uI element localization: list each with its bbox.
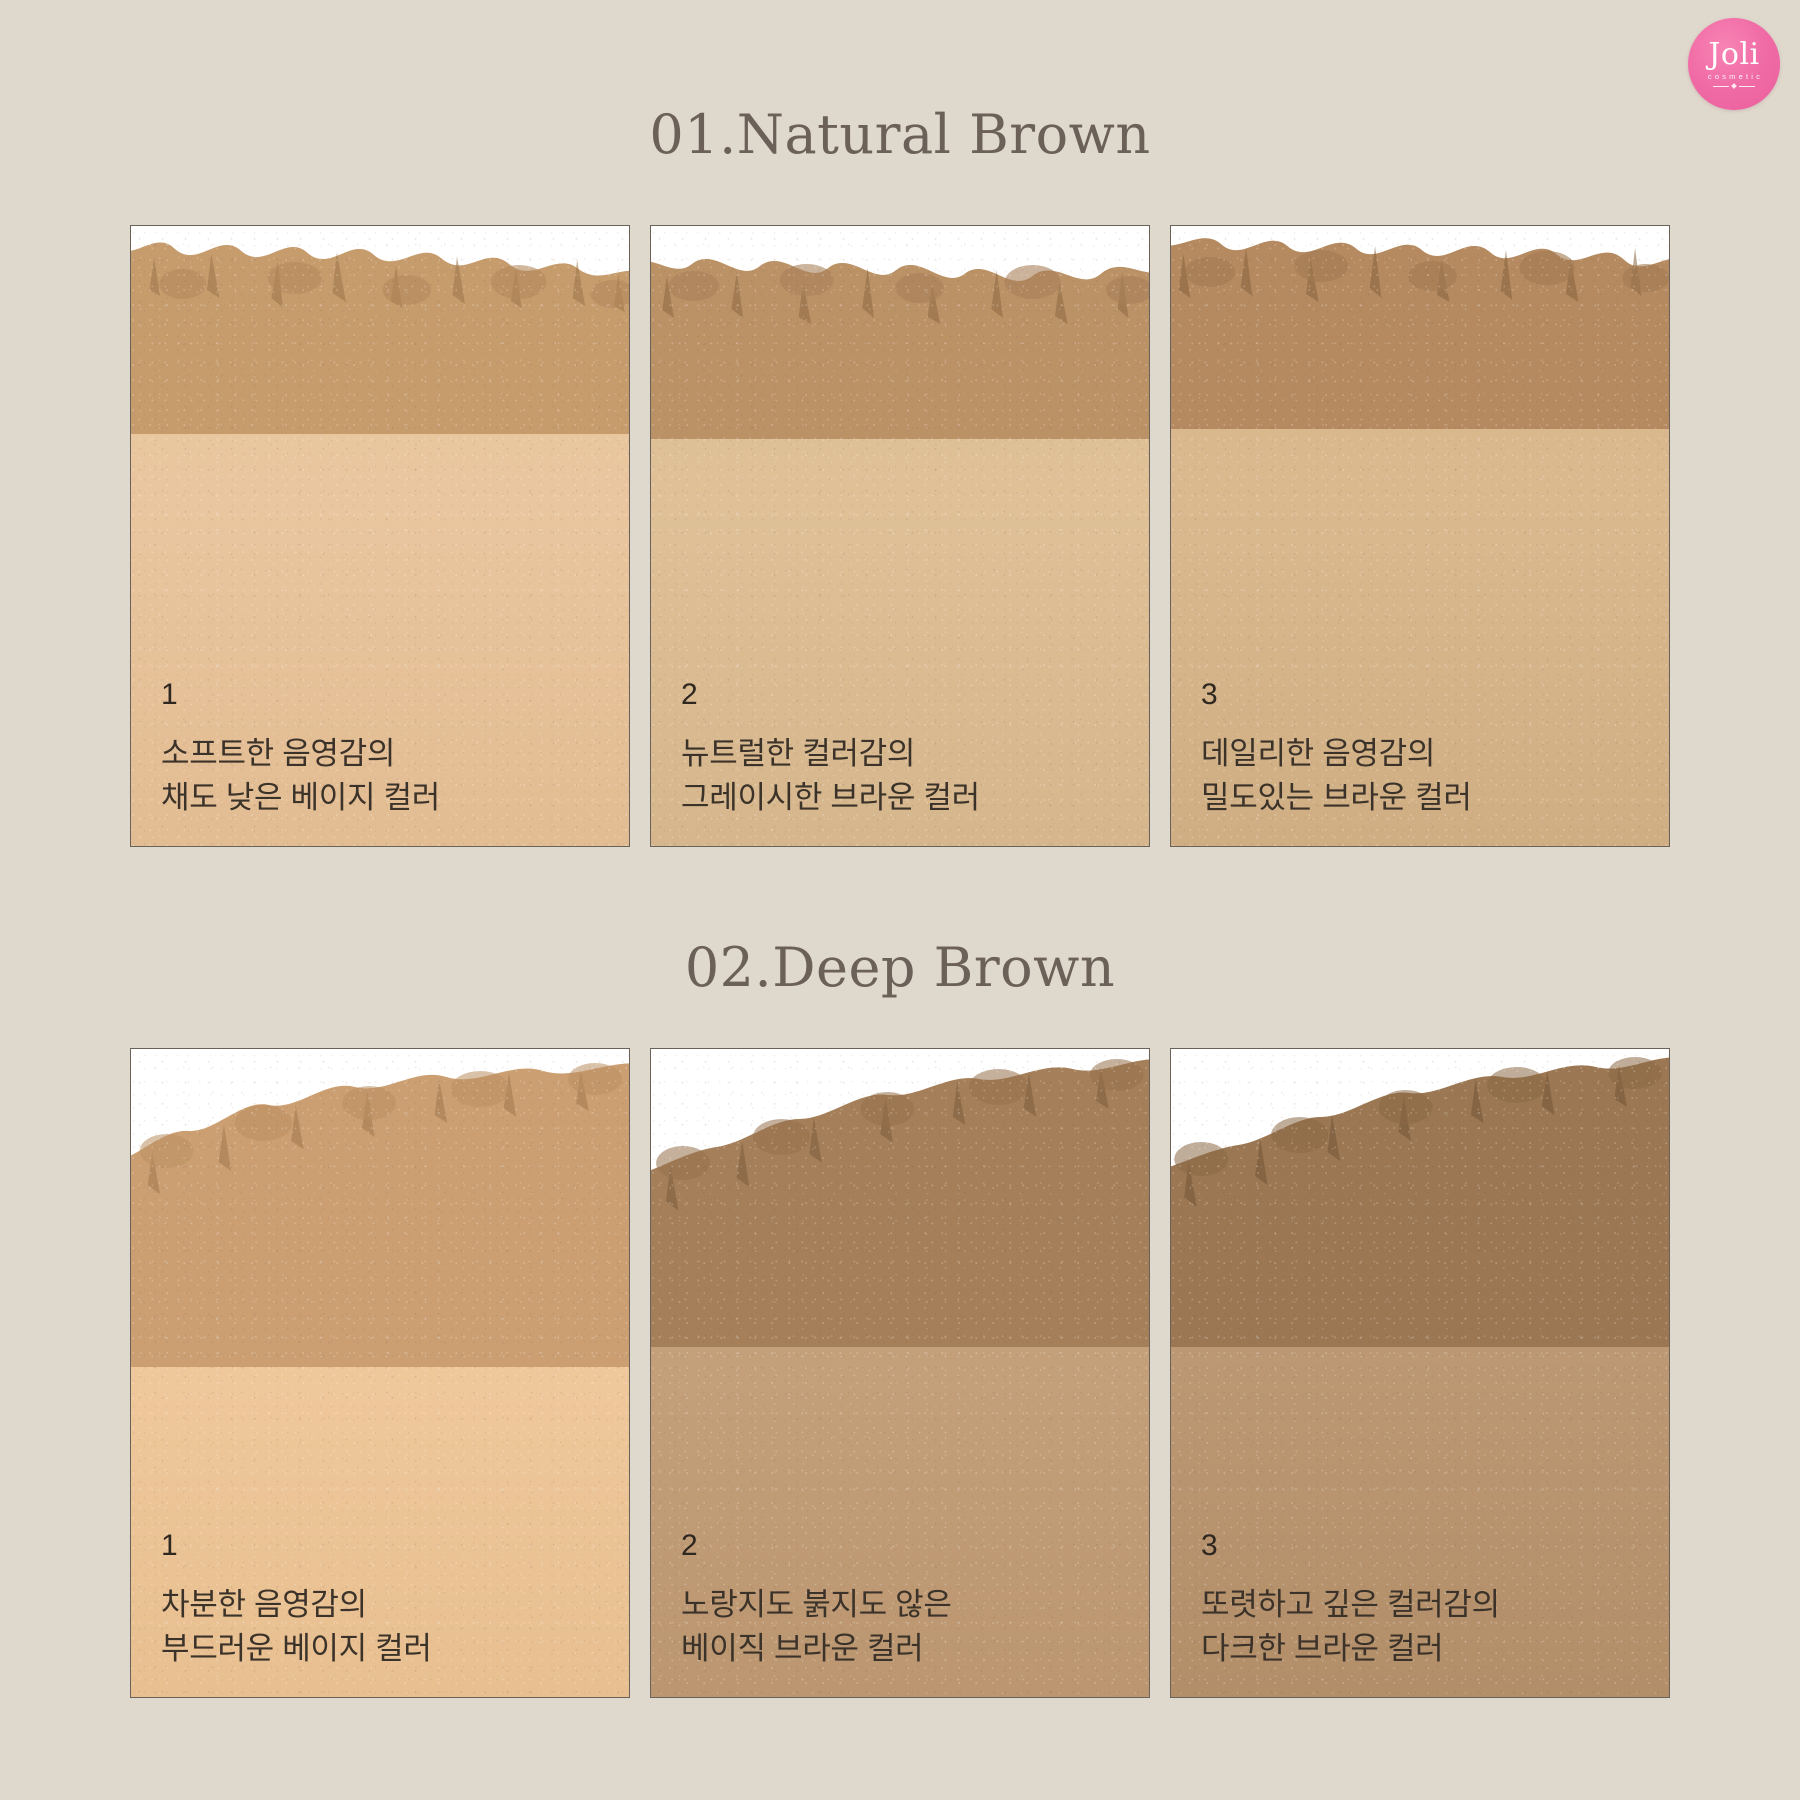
swatch-caption: 1 소프트한 음영감의 채도 낮은 베이지 컬러 bbox=[161, 680, 440, 820]
swatch-description-line-2: 베이직 브라운 컬러 bbox=[681, 1627, 952, 1671]
brand-logo-name: Joli bbox=[1708, 40, 1759, 70]
swatch-description-line-2: 다크한 브라운 컬러 bbox=[1201, 1627, 1500, 1671]
swatch-row-natural-brown: 1 소프트한 음영감의 채도 낮은 베이지 컬러 bbox=[130, 225, 1670, 847]
brand-logo-tagline: cosmetic bbox=[1708, 72, 1763, 81]
swatch-description-line-1: 데일리한 음영감의 bbox=[1201, 732, 1472, 776]
swatch-description-line-1: 또렷하고 깊은 컬러감의 bbox=[1201, 1583, 1500, 1627]
swatch-caption: 1 차분한 음영감의 부드러운 베이지 컬러 bbox=[161, 1531, 432, 1671]
swatch-number: 3 bbox=[1201, 680, 1472, 710]
brand-logo-divider bbox=[1713, 84, 1755, 88]
swatch-description-line-1: 소프트한 음영감의 bbox=[161, 732, 440, 776]
swatch-number: 3 bbox=[1201, 1531, 1500, 1561]
swatch-caption: 3 데일리한 음영감의 밀도있는 브라운 컬러 bbox=[1201, 680, 1472, 820]
brand-logo: Joli cosmetic bbox=[1688, 18, 1780, 110]
swatch-number: 2 bbox=[681, 680, 980, 710]
swatch-card[interactable]: 3 또렷하고 깊은 컬러감의 다크한 브라운 컬러 bbox=[1170, 1048, 1670, 1698]
section-title-deep-brown: 02.Deep Brown bbox=[0, 936, 1800, 999]
swatch-card[interactable]: 1 차분한 음영감의 부드러운 베이지 컬러 bbox=[130, 1048, 630, 1698]
swatch-card[interactable]: 3 데일리한 음영감의 밀도있는 브라운 컬러 bbox=[1170, 225, 1670, 847]
swatch-caption: 2 뉴트럴한 컬러감의 그레이시한 브라운 컬러 bbox=[681, 680, 980, 820]
swatch-description-line-2: 밀도있는 브라운 컬러 bbox=[1201, 776, 1472, 820]
swatch-caption: 2 노랑지도 붉지도 않은 베이직 브라운 컬러 bbox=[681, 1531, 952, 1671]
swatch-row-deep-brown: 1 차분한 음영감의 부드러운 베이지 컬러 bbox=[130, 1048, 1670, 1698]
swatch-card[interactable]: 1 소프트한 음영감의 채도 낮은 베이지 컬러 bbox=[130, 225, 630, 847]
swatch-number: 1 bbox=[161, 680, 440, 710]
swatch-description-line-1: 뉴트럴한 컬러감의 bbox=[681, 732, 980, 776]
swatch-number: 1 bbox=[161, 1531, 432, 1561]
swatch-card[interactable]: 2 뉴트럴한 컬러감의 그레이시한 브라운 컬러 bbox=[650, 225, 1150, 847]
swatch-description-line-2: 채도 낮은 베이지 컬러 bbox=[161, 776, 440, 820]
section-title-natural-brown: 01.Natural Brown bbox=[0, 103, 1800, 166]
swatch-number: 2 bbox=[681, 1531, 952, 1561]
swatch-description-line-1: 노랑지도 붉지도 않은 bbox=[681, 1583, 952, 1627]
swatch-description-line-1: 차분한 음영감의 bbox=[161, 1583, 432, 1627]
diamond-icon bbox=[1731, 83, 1737, 89]
swatch-description-line-2: 그레이시한 브라운 컬러 bbox=[681, 776, 980, 820]
swatch-card[interactable]: 2 노랑지도 붉지도 않은 베이직 브라운 컬러 bbox=[650, 1048, 1150, 1698]
swatch-caption: 3 또렷하고 깊은 컬러감의 다크한 브라운 컬러 bbox=[1201, 1531, 1500, 1671]
swatch-description-line-2: 부드러운 베이지 컬러 bbox=[161, 1627, 432, 1671]
